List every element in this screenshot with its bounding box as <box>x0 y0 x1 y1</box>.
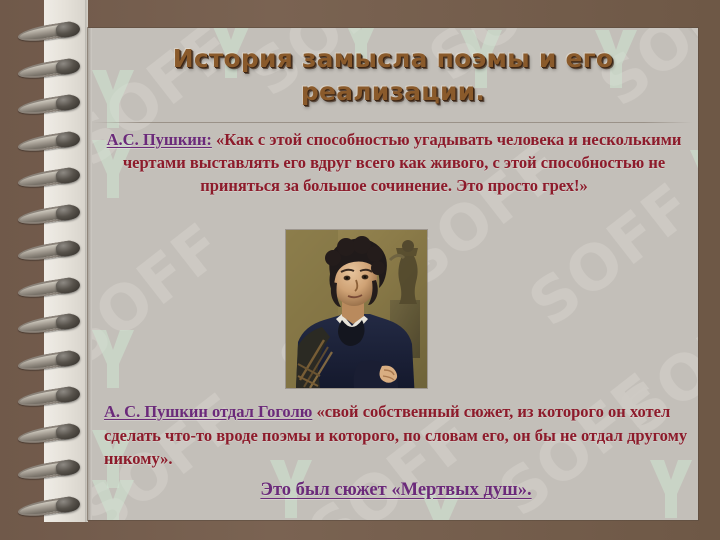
binder-ring-bead <box>55 130 80 147</box>
pushkin-quote-block: А.С. Пушкин: «Как с этой способностью уг… <box>100 128 688 197</box>
binder-ring-bead <box>55 349 80 366</box>
page-title: История замысла поэмы и его реализации. <box>88 42 698 108</box>
binder-ring <box>18 132 86 148</box>
binder-ring <box>18 460 86 476</box>
binder-ring <box>18 424 86 440</box>
binder-ring-bead <box>55 21 80 38</box>
watermark-logo-icon <box>688 148 698 210</box>
binder-ring-bead <box>55 203 80 220</box>
binder-ring-bead <box>55 313 80 330</box>
watermark-logo-icon <box>90 328 136 390</box>
quote-attribution-link[interactable]: А.С. Пушкин: <box>107 130 212 149</box>
binder-ring-bead <box>55 386 80 403</box>
watermark-text: SOFF <box>88 208 237 380</box>
binder-ring-bead <box>55 57 80 74</box>
binder-ring-bead <box>55 495 80 512</box>
binder-ring <box>18 387 86 403</box>
binder-ring <box>18 59 86 75</box>
binder-ring <box>18 497 86 513</box>
binder-ring-bead <box>55 240 80 257</box>
binder-ring-bead <box>55 459 80 476</box>
title-divider <box>92 122 692 123</box>
binder-ring <box>18 95 86 111</box>
binder-ring <box>18 22 86 38</box>
pushkin-portrait-image <box>286 230 427 388</box>
paragraph-lead-link[interactable]: А. С. Пушкин отдал Гоголю <box>104 402 312 421</box>
binder-ring <box>18 168 86 184</box>
binder-ring <box>18 241 86 257</box>
binder-ring <box>18 205 86 221</box>
page-corner-fold <box>688 28 698 38</box>
binder-ring <box>18 314 86 330</box>
binder-ring <box>18 278 86 294</box>
binder-ring-bead <box>55 167 80 184</box>
conclusion-line: Это был сюжет «Мертвых душ». <box>104 478 688 502</box>
gogol-paragraph-block: А. С. Пушкин отдал Гоголю «свой собствен… <box>104 400 688 471</box>
binder-ring-bead <box>55 422 80 439</box>
binder-ring-bead <box>55 276 80 293</box>
binder-ring <box>18 351 86 367</box>
binder-ring-bead <box>55 94 80 111</box>
slide-backdrop: SOFFSOFFSOFFSOFFSOFFSOFFSOFFSOFFSOFFSOFF… <box>0 0 720 540</box>
